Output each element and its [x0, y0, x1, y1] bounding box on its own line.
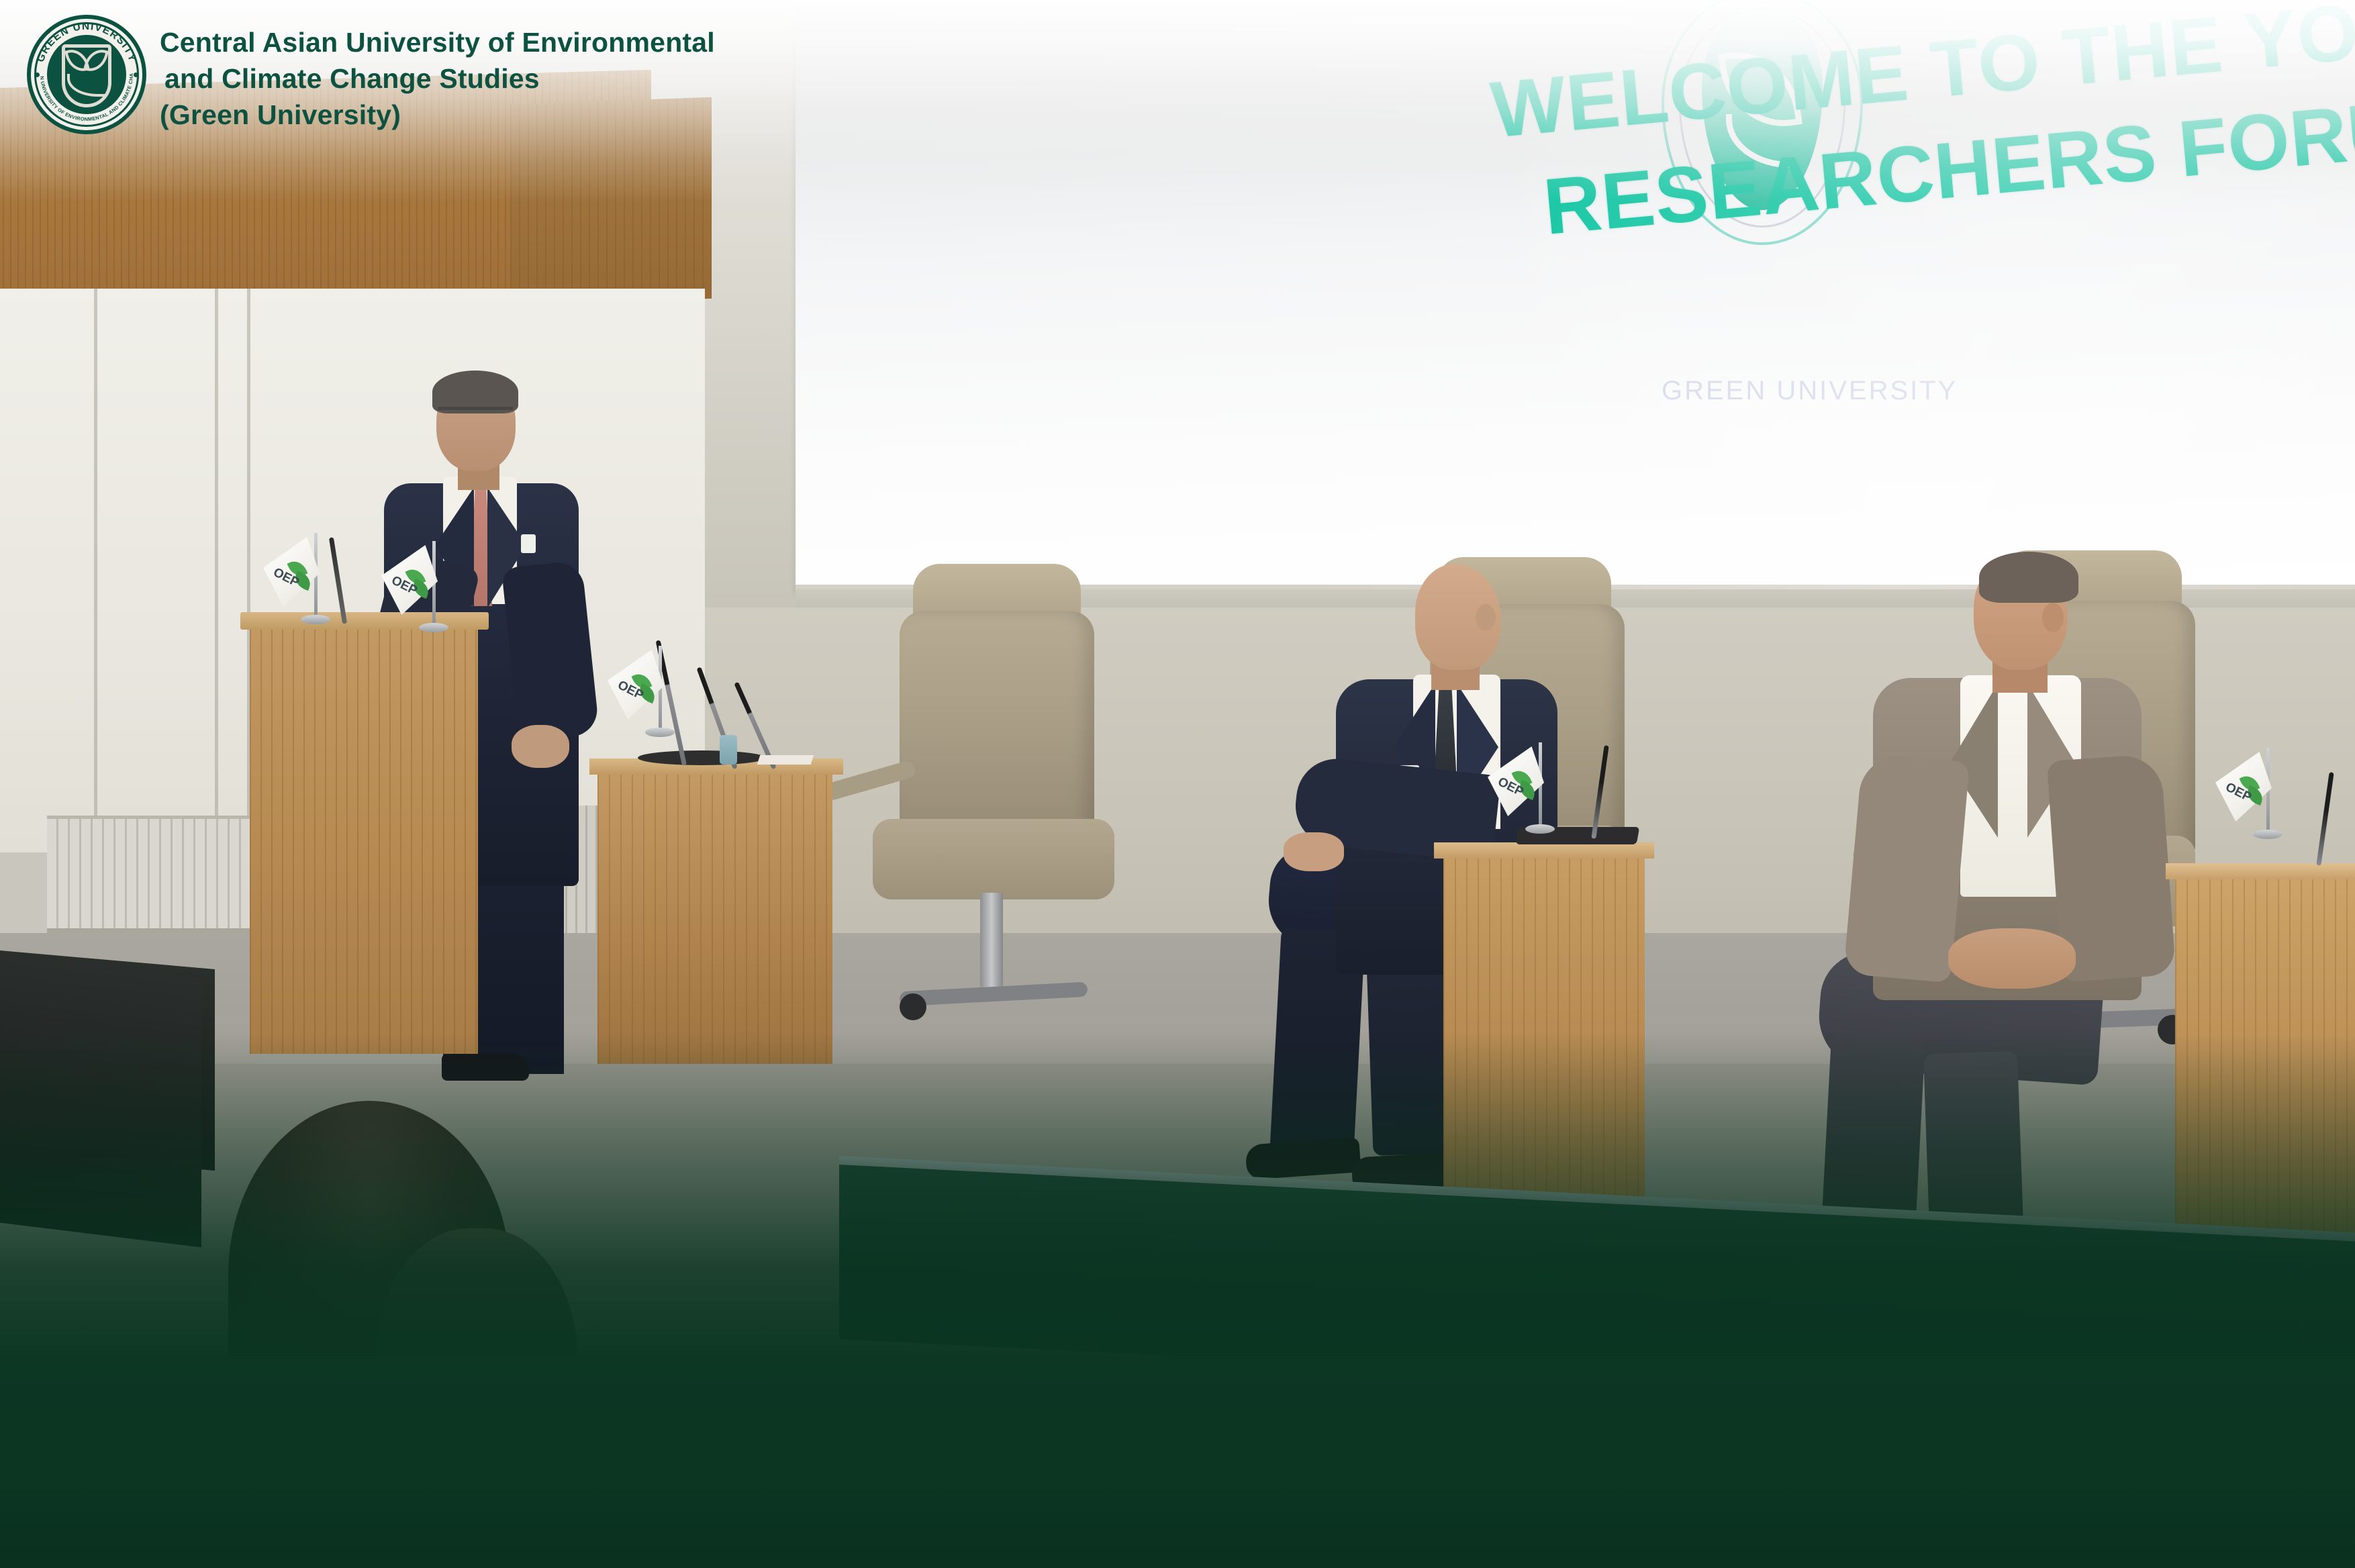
svg-text:CENTRAL ASIAN UNIVERSITY OF EN: CENTRAL ASIAN UNIVERSITY OF ENVIRONMENTA…	[27, 15, 134, 122]
foreground-dark-block	[0, 954, 201, 1248]
oep-table-flag: OEP	[2215, 752, 2277, 839]
speaker-podium	[250, 624, 478, 1054]
oep-table-flag: OEP	[381, 545, 443, 632]
water-bottle	[720, 735, 737, 765]
panelist-2-podium-top	[2166, 863, 2355, 879]
projected-welcome-text: WELCOME TO THE YOUNG RESEARCHERS FORUM!	[1487, 0, 2355, 262]
microphone-base	[638, 750, 765, 765]
header-title-line-1: Central Asian University of Environmenta…	[160, 27, 715, 58]
header-title-line-2: and Climate Change Studies	[164, 63, 540, 95]
oep-table-flag: OEP	[608, 650, 669, 737]
paper-sheet	[757, 755, 814, 765]
oep-table-flag: OEP	[1488, 746, 1549, 834]
header-title-line-3: (Green University)	[160, 99, 401, 131]
glasses-icon	[438, 407, 513, 418]
seal-arc-bottom: CENTRAL ASIAN UNIVERSITY OF ENVIRONMENTA…	[27, 15, 146, 134]
wall-seam	[94, 289, 97, 852]
seated-panelist-taupe-blazer	[1806, 556, 2209, 1173]
oep-table-flag: OEP	[263, 537, 325, 624]
video-frame: GREEN UNIVERSITY WELCOME TO THE YOUNG RE…	[0, 0, 2355, 1568]
green-lower-band	[0, 1356, 2355, 1568]
projected-screen-caption: GREEN UNIVERSITY	[1662, 376, 1958, 406]
header-branding: GREEN UNIVERSITY CENTRAL ASIAN UNIVERSIT…	[27, 15, 866, 156]
green-university-seal-icon: GREEN UNIVERSITY CENTRAL ASIAN UNIVERSIT…	[27, 15, 146, 134]
side-table	[597, 769, 832, 1064]
speaker-shoe	[442, 1054, 529, 1081]
projection-screen: GREEN UNIVERSITY WELCOME TO THE YOUNG RE…	[796, 0, 2355, 591]
wall-seam	[215, 289, 218, 852]
empty-executive-chair	[853, 564, 1175, 1047]
panelist-2-clasped-hands	[1948, 928, 2076, 989]
panelist-1-podium-top	[1434, 842, 1654, 859]
speaker-lapel-pin-icon	[521, 534, 536, 553]
